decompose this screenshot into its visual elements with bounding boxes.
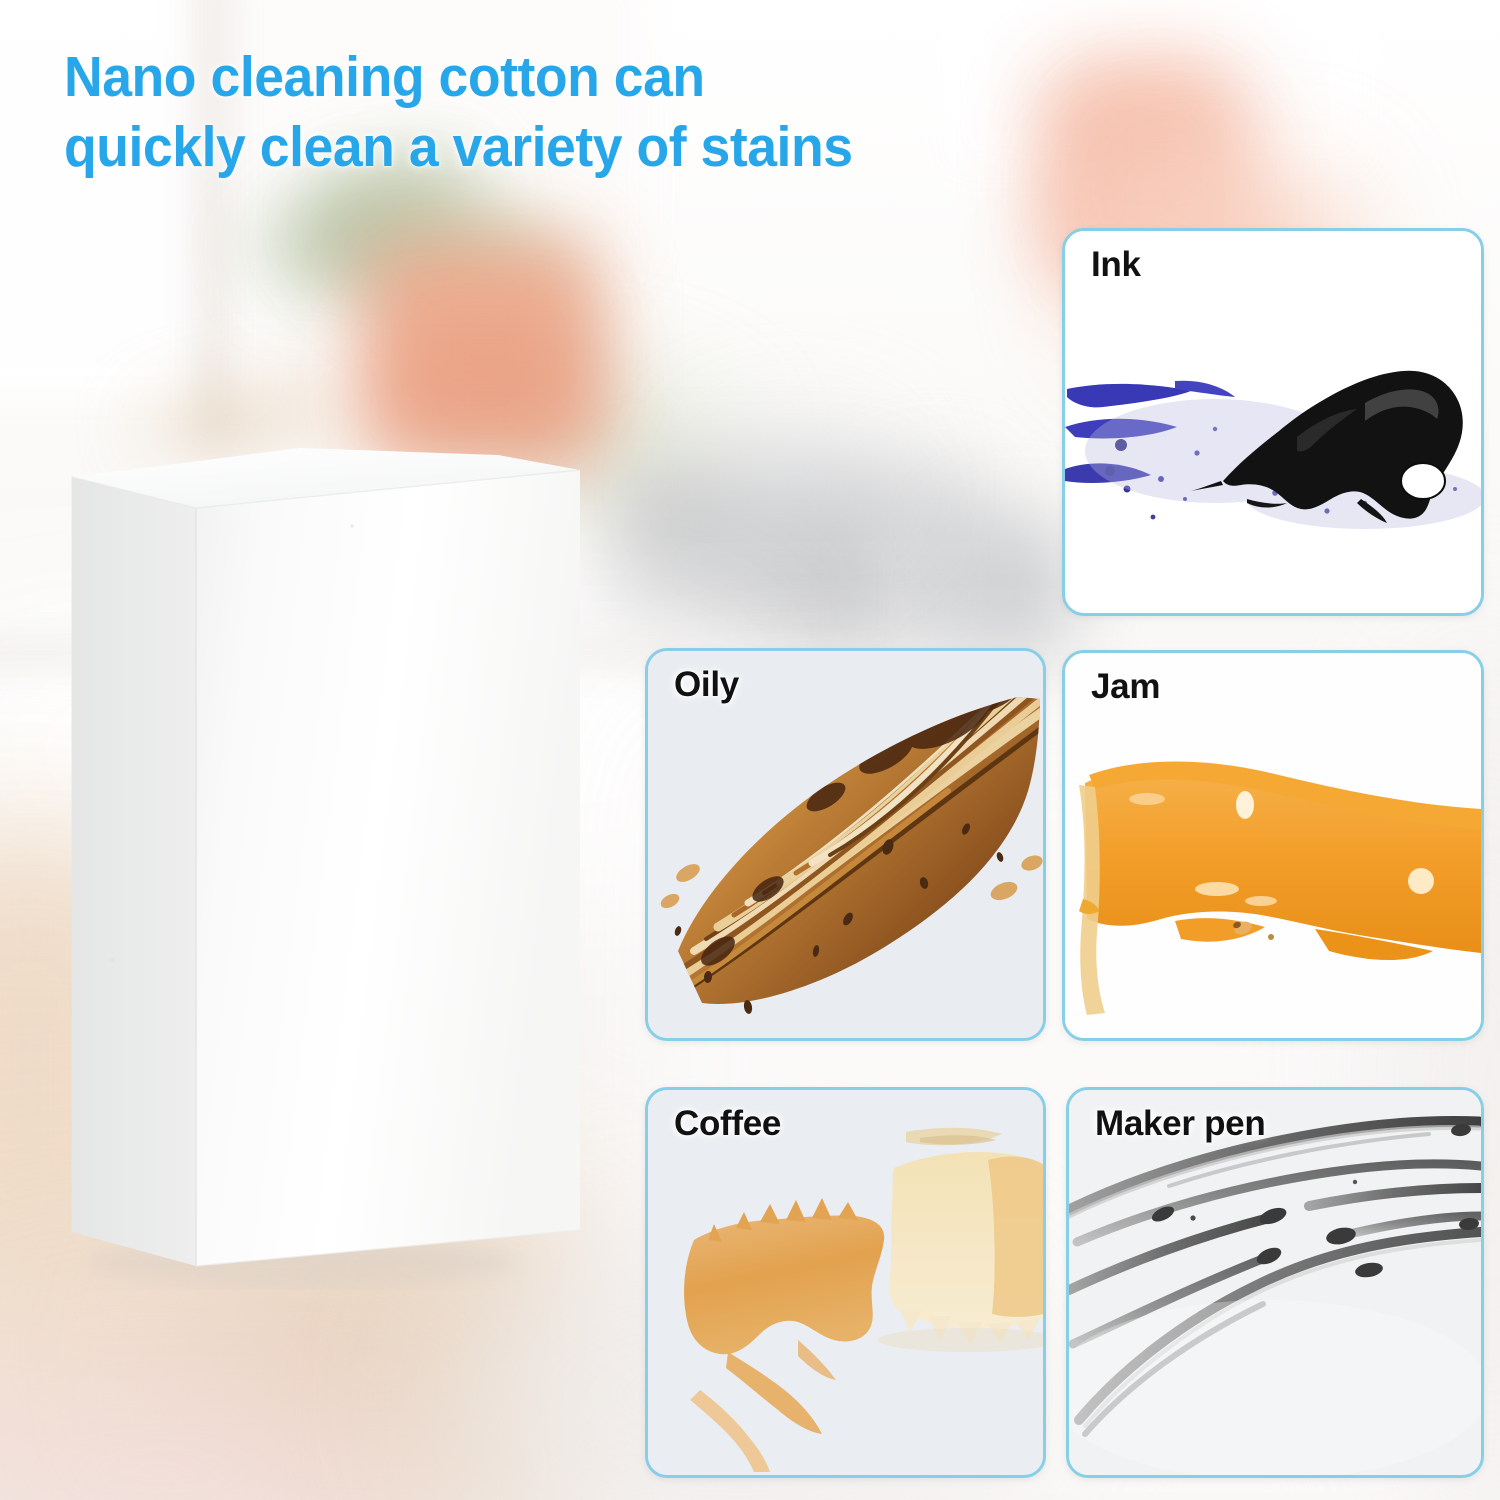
gray-object-faint bbox=[700, 430, 890, 540]
stain-card-coffee[interactable]: Coffee bbox=[645, 1087, 1046, 1478]
product-marketing-image: Nano cleaning cotton can quickly clean a… bbox=[0, 0, 1500, 1500]
stain-card-label: Jam bbox=[1091, 667, 1160, 707]
coffee-stain-image bbox=[648, 1090, 1043, 1475]
stain-card-label: Coffee bbox=[674, 1104, 781, 1144]
sponge-product-image bbox=[0, 430, 640, 1290]
stain-card-ink[interactable]: Ink bbox=[1062, 228, 1484, 616]
jam-stain-image bbox=[1065, 653, 1481, 1038]
stain-card-label: Maker pen bbox=[1095, 1104, 1265, 1144]
maker-pen-stain-image bbox=[1069, 1090, 1481, 1475]
stain-card-label: Ink bbox=[1091, 245, 1141, 285]
stain-card-jam[interactable]: Jam bbox=[1062, 650, 1484, 1041]
oily-stain-image bbox=[648, 651, 1043, 1038]
stain-card-maker-pen[interactable]: Maker pen bbox=[1066, 1087, 1484, 1478]
ink-stain-image bbox=[1065, 231, 1481, 613]
page-title: Nano cleaning cotton can quickly clean a… bbox=[64, 42, 1079, 182]
stain-card-oily[interactable]: Oily bbox=[645, 648, 1046, 1041]
stain-card-label: Oily bbox=[674, 665, 739, 705]
